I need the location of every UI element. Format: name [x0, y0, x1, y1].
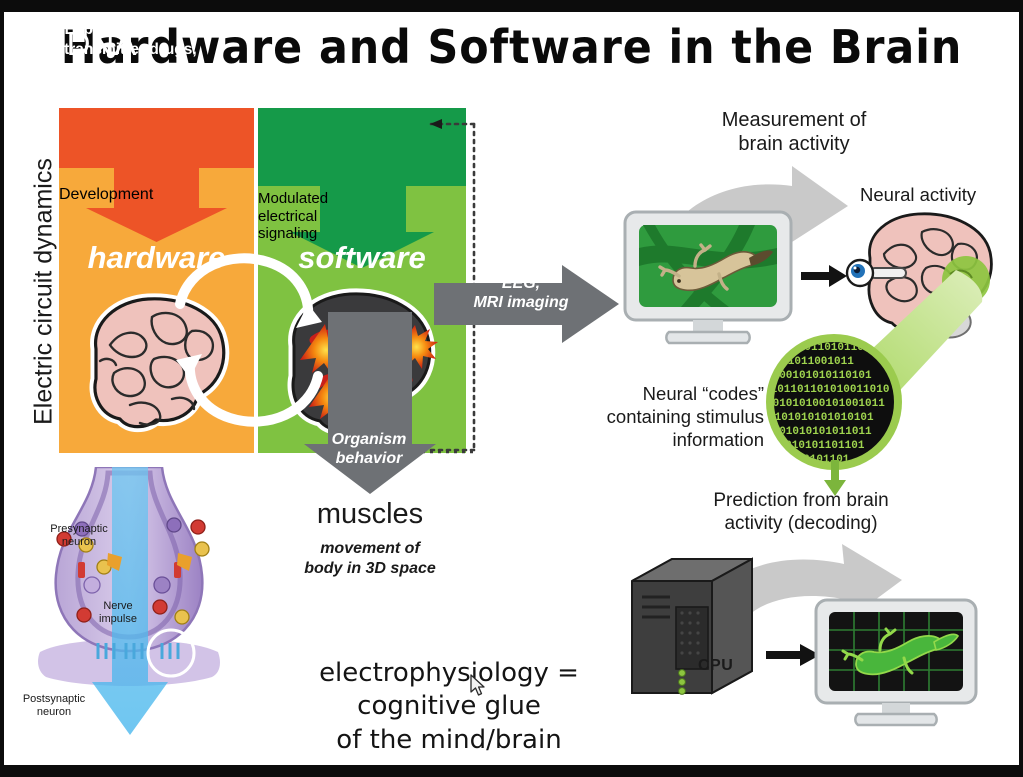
- measurement-line-2: brain activity: [664, 132, 924, 156]
- codes-line-1: Neural “codes”: [574, 382, 764, 405]
- caption-line-2: cognitive glue: [279, 690, 619, 723]
- caption-line-3: of the mind/brain: [279, 724, 619, 757]
- development-arrow-label: Development: [59, 186, 254, 204]
- experience-line-1: Experience,: [4, 20, 212, 40]
- monitor-lizard-decoded-icon: [812, 598, 984, 730]
- postsynaptic-line-2: neuron: [12, 706, 96, 719]
- organism-line-1: Organism: [309, 430, 429, 449]
- codes-line-3: information: [574, 428, 764, 451]
- bottom-caption: electrophysiology = cognitive glue of th…: [279, 657, 619, 757]
- presynaptic-line-2: neuron: [34, 536, 124, 549]
- experience-label: Experience, Neurotransmitter drugs, Ion …: [4, 20, 212, 79]
- postsynaptic-neuron-label: Postsynaptic neuron: [12, 693, 96, 719]
- caption-line-1: electrophysiology =: [279, 657, 619, 690]
- svg-text:0101101101010011010: 0101101101010011010: [764, 384, 889, 396]
- neural-codes-label: Neural “codes” containing stimulus infor…: [574, 382, 764, 451]
- measurement-line-1: Measurement of: [664, 108, 924, 132]
- computer-tower-icon: [628, 553, 762, 698]
- binary-code-circle-icon: 0101011010110 1101011001011 100010101011…: [764, 332, 904, 472]
- svg-text:101010100101001011: 101010100101001011: [766, 398, 885, 410]
- cpu-label: CPU: [698, 657, 733, 675]
- slide-canvas: Hardware and Software in the Brain Elect…: [4, 12, 1019, 765]
- muscles-sublabel: movement of body in 3D space: [270, 539, 470, 579]
- postsynaptic-line-1: Postsynaptic: [12, 693, 96, 706]
- eeg-mri-label: EEG, MRI imaging: [456, 274, 586, 312]
- impulse-line-2: impulse: [83, 613, 153, 626]
- dna-header: [59, 108, 254, 168]
- prediction-line-2: activity (decoding): [676, 512, 926, 535]
- muscles-label: muscles: [280, 498, 460, 531]
- svg-text:0101010101010101: 0101010101010101: [768, 412, 874, 424]
- prediction-line-1: Prediction from brain: [676, 489, 926, 512]
- slide-frame: Hardware and Software in the Brain Elect…: [0, 0, 1023, 777]
- prediction-label: Prediction from brain activity (decoding…: [676, 489, 926, 535]
- codes-line-2: containing stimulus: [574, 405, 764, 428]
- experience-line-2: Neurotransmitter drugs,: [4, 40, 212, 60]
- presynaptic-neuron-label: Presynaptic neuron: [34, 523, 124, 549]
- vertical-axis-label: Electric circuit dynamics: [30, 102, 59, 482]
- muscles-sub-line-2: body in 3D space: [270, 559, 470, 579]
- eeg-line-1: EEG,: [456, 274, 586, 293]
- measurement-label: Measurement of brain activity: [664, 108, 924, 157]
- nerve-impulse-label: Nerve impulse: [83, 600, 153, 626]
- organism-line-2: behavior: [309, 449, 429, 468]
- impulse-line-1: Nerve: [83, 600, 153, 613]
- experience-line-3: Ion channel drugs: [4, 60, 212, 80]
- neural-activity-label: Neural activity: [860, 184, 1020, 206]
- presynaptic-line-1: Presynaptic: [34, 523, 124, 536]
- mouse-cursor: [470, 674, 486, 698]
- organism-behavior-label: Organism behavior: [309, 430, 429, 468]
- muscles-sub-line-1: movement of: [270, 539, 470, 559]
- eeg-line-2: MRI imaging: [456, 293, 586, 312]
